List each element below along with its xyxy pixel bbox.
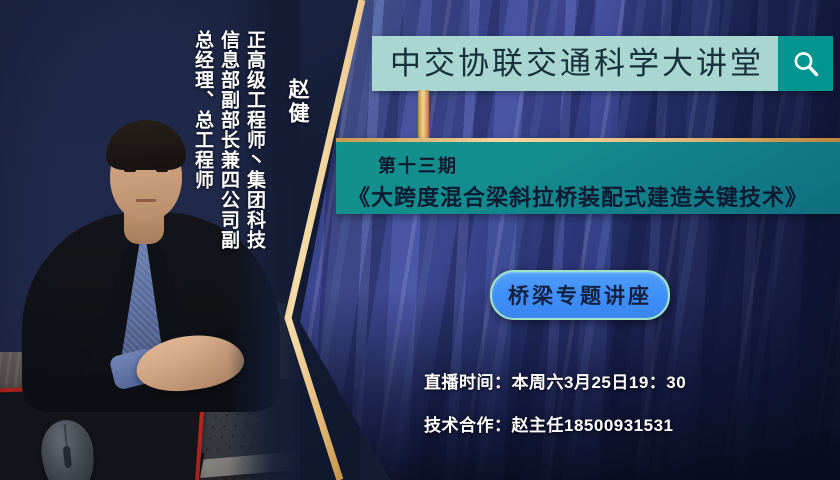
live-time-text: 直播时间：本周六3月25日19：30 xyxy=(424,368,686,393)
banner-connector-bar xyxy=(418,90,429,140)
episode-label: 第十三期 xyxy=(378,152,458,178)
speaker-credential-line-1: 正高级工程师丶集团科技 xyxy=(245,30,264,250)
topic-title: 《大跨度混合梁斜拉桥装配式建造关键技术》 xyxy=(348,180,808,212)
speaker-credential-line-2: 信息部副部长兼四公司副 xyxy=(219,30,238,250)
person-eye-left xyxy=(124,168,136,172)
person-mouth xyxy=(136,199,156,202)
page-title: 中交协联交通科学大讲堂 xyxy=(372,36,778,91)
subtitle-panel: 第十三期 《大跨度混合梁斜拉桥装配式建造关键技术》 xyxy=(336,138,840,214)
left-panel: 赵健 正高级工程师丶集团科技 信息部副部长兼四公司副 总经理、总工程师 xyxy=(0,0,360,480)
webinar-poster: 赵健 正高级工程师丶集团科技 信息部副部长兼四公司副 总经理、总工程师 中交协联… xyxy=(0,0,840,480)
speaker-credential-line-3: 总经理、总工程师 xyxy=(193,30,212,190)
person-eye-right xyxy=(156,168,168,172)
contact-text: 技术合作：赵主任18500931531 xyxy=(424,411,674,436)
title-banner: 中交协联交通科学大讲堂 xyxy=(372,36,833,91)
search-icon[interactable] xyxy=(778,36,833,91)
category-pill-button[interactable]: 桥梁专题讲座 xyxy=(490,270,670,320)
speaker-name: 赵健 xyxy=(287,78,308,126)
